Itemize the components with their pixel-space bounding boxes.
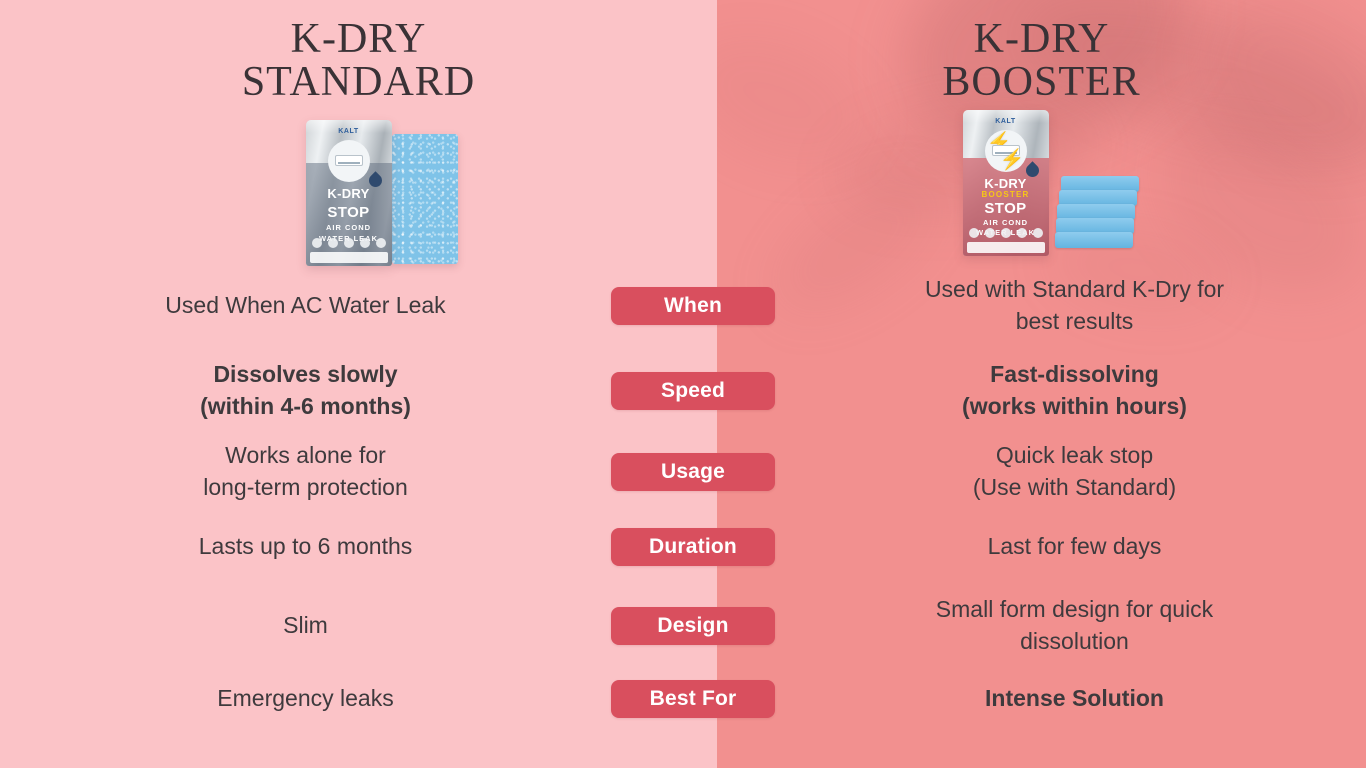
- booster-cell-line: best results: [925, 306, 1224, 338]
- standard-cell-text: Lasts up to 6 months: [181, 531, 431, 563]
- booster-cell-line: (works within hours): [962, 391, 1187, 423]
- kalt-brand-logo: KALT: [306, 128, 392, 135]
- feature-icon: [1001, 228, 1011, 238]
- pouch-footer-label: [967, 242, 1045, 253]
- pouch-subline-1: AIR COND: [306, 223, 392, 232]
- row-label-wrap: Usage: [611, 453, 775, 491]
- lightning-bolt-icon: ⚡: [1000, 150, 1025, 170]
- row-label-pill-when[interactable]: When: [611, 287, 775, 325]
- booster-cell-line: (Use with Standard): [973, 472, 1176, 504]
- booster-cell-line: dissolution: [936, 626, 1213, 658]
- booster-cell-text: Quick leak stop(Use with Standard): [955, 440, 1194, 504]
- booster-cell-text: Intense Solution: [967, 683, 1182, 715]
- standard-cell-text: Works alone forlong-term protection: [185, 440, 426, 504]
- booster-product-image: KALT ⚡ ⚡ K-DRY BOOSTER STOP AIR COND WAT…: [927, 110, 1157, 260]
- booster-cell-text: Small form design for quickdissolution: [918, 594, 1231, 658]
- comparison-row: Works alone forlong-term protectionUsage…: [0, 436, 1366, 508]
- feature-icon: [360, 238, 370, 248]
- pouch-variant-label: BOOSTER: [963, 190, 1049, 199]
- booster-cell: Intense Solution: [775, 683, 1366, 715]
- booster-cell-line: Intense Solution: [985, 683, 1164, 715]
- row-label-wrap: When: [611, 287, 775, 325]
- standard-cell-line: Works alone for: [203, 440, 408, 472]
- standard-cell-text: Slim: [265, 610, 346, 642]
- row-label-pill-usage[interactable]: Usage: [611, 453, 775, 491]
- row-label-pill-speed[interactable]: Speed: [611, 372, 775, 410]
- booster-cell-text: Last for few days: [970, 531, 1180, 563]
- row-label-pill-design[interactable]: Design: [611, 607, 775, 645]
- booster-cell-text: Fast-dissolving(works within hours): [944, 359, 1205, 423]
- pouch-feature-icons: [312, 238, 386, 248]
- blue-foam-block-icon: [392, 134, 458, 264]
- booster-cell-line: Fast-dissolving: [962, 359, 1187, 391]
- standard-cell-line: (within 4-6 months): [200, 391, 411, 423]
- comparison-row: Lasts up to 6 monthsDurationLast for few…: [0, 516, 1366, 578]
- standard-cell: Used When AC Water Leak: [0, 290, 611, 322]
- pouch-footer-label: [310, 252, 388, 263]
- booster-title: K-DRY BOOSTER: [942, 18, 1140, 104]
- standard-cell-line: Emergency leaks: [217, 683, 393, 715]
- standard-cell-line: long-term protection: [203, 472, 408, 504]
- row-label-wrap: Design: [611, 607, 775, 645]
- feature-icon: [1033, 228, 1043, 238]
- feature-icon: [328, 238, 338, 248]
- comparison-rows: Used When AC Water LeakWhenUsed with Sta…: [0, 274, 1366, 728]
- comparison-row: SlimDesignSmall form design for quickdis…: [0, 588, 1366, 664]
- booster-cell-line: Last for few days: [988, 531, 1162, 563]
- standard-cell: Lasts up to 6 months: [0, 531, 611, 563]
- row-label-pill-best-for[interactable]: Best For: [611, 680, 775, 718]
- standard-cell: Works alone forlong-term protection: [0, 440, 611, 504]
- pouch-subline-1: AIR COND: [963, 218, 1049, 227]
- pouch-headline: STOP: [306, 204, 392, 221]
- pouch-product-name: K-DRY: [306, 186, 392, 201]
- comparison-row: Used When AC Water LeakWhenUsed with Sta…: [0, 274, 1366, 338]
- comparison-row: Emergency leaksBest ForIntense Solution: [0, 670, 1366, 728]
- standard-cell-line: Slim: [283, 610, 328, 642]
- booster-cell: Used with Standard K-Dry forbest results: [775, 274, 1366, 338]
- booster-cell-line: Small form design for quick: [936, 594, 1213, 626]
- standard-cell-text: Emergency leaks: [199, 683, 411, 715]
- booster-cell: Quick leak stop(Use with Standard): [775, 440, 1366, 504]
- ac-unit-icon: [328, 140, 370, 182]
- row-label-wrap: Duration: [611, 528, 775, 566]
- standard-title: K-DRY STANDARD: [242, 18, 475, 104]
- booster-title-line1: K-DRY: [974, 16, 1110, 62]
- booster-cell: Fast-dissolving(works within hours): [775, 359, 1366, 423]
- feature-icon: [344, 238, 354, 248]
- booster-cell: Last for few days: [775, 531, 1366, 563]
- feature-icon: [376, 238, 386, 248]
- pouch-feature-icons: [969, 228, 1043, 238]
- standard-cell-line: Used When AC Water Leak: [165, 290, 445, 322]
- standard-cell-line: Lasts up to 6 months: [199, 531, 413, 563]
- standard-cell: Slim: [0, 610, 611, 642]
- standard-cell-text: Used When AC Water Leak: [147, 290, 463, 322]
- feature-icon: [985, 228, 995, 238]
- standard-cell-line: Dissolves slowly: [200, 359, 411, 391]
- booster-title-line2: BOOSTER: [942, 61, 1140, 104]
- feature-icon: [312, 238, 322, 248]
- standard-cell-text: Dissolves slowly(within 4-6 months): [182, 359, 429, 423]
- standard-cell: Dissolves slowly(within 4-6 months): [0, 359, 611, 423]
- ac-unit-with-bolt-icon: ⚡ ⚡: [985, 130, 1027, 172]
- kalt-brand-logo: KALT: [963, 118, 1049, 125]
- kdry-standard-pouch-icon: KALT K-DRY STOP AIR COND WATER LEAK: [306, 120, 392, 266]
- pouch-headline: STOP: [963, 200, 1049, 217]
- booster-cell: Small form design for quickdissolution: [775, 594, 1366, 658]
- row-label-pill-duration[interactable]: Duration: [611, 528, 775, 566]
- comparison-row: Dissolves slowly(within 4-6 months)Speed…: [0, 356, 1366, 426]
- standard-product-image: KALT K-DRY STOP AIR COND WATER LEAK: [244, 118, 474, 268]
- booster-cell-line: Quick leak stop: [973, 440, 1176, 472]
- row-label-wrap: Best For: [611, 680, 775, 718]
- row-label-wrap: Speed: [611, 372, 775, 410]
- standard-cell: Emergency leaks: [0, 683, 611, 715]
- kdry-booster-pouch-icon: KALT ⚡ ⚡ K-DRY BOOSTER STOP AIR COND WAT…: [963, 110, 1049, 256]
- feature-icon: [1017, 228, 1027, 238]
- standard-title-line2: STANDARD: [242, 61, 475, 104]
- booster-cell-line: Used with Standard K-Dry for: [925, 274, 1224, 306]
- feature-icon: [969, 228, 979, 238]
- pouch-product-name: K-DRY: [963, 176, 1049, 191]
- standard-title-line1: K-DRY: [291, 16, 427, 62]
- comparison-infographic: K-DRY STANDARD KALT K-DRY STOP AIR COND …: [0, 0, 1366, 768]
- blue-foam-strips-stack-icon: [1055, 176, 1139, 252]
- booster-cell-text: Used with Standard K-Dry forbest results: [907, 274, 1242, 338]
